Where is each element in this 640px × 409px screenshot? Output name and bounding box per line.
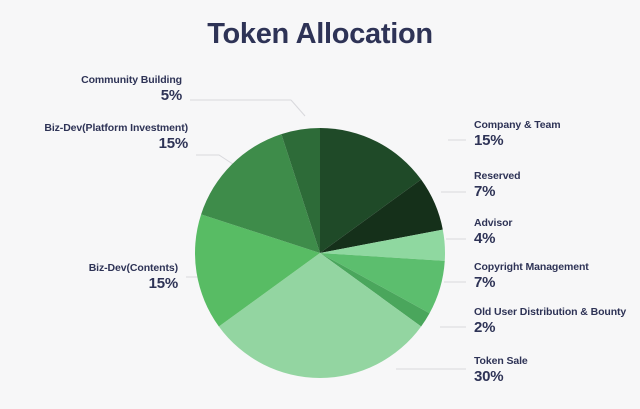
label-company-team: Company & Team 15% — [474, 119, 561, 150]
label-company-team-name: Company & Team — [474, 119, 561, 132]
label-biz-dev-contents-name: Biz-Dev(Contents) — [89, 262, 178, 275]
label-old-user-distribution-value: 2% — [474, 319, 626, 337]
label-biz-dev-contents: Biz-Dev(Contents) 15% — [89, 262, 178, 293]
label-token-sale: Token Sale 30% — [474, 355, 528, 386]
label-biz-dev-contents-value: 15% — [89, 275, 178, 293]
label-advisor-value: 4% — [474, 230, 512, 248]
label-old-user-distribution-name: Old User Distribution & Bounty — [474, 306, 626, 319]
label-token-sale-value: 30% — [474, 368, 528, 386]
label-token-sale-name: Token Sale — [474, 355, 528, 368]
leader-line-community-building — [291, 100, 305, 116]
label-company-team-value: 15% — [474, 132, 561, 150]
token-allocation-chart: Token Allocation Company & Team 15% Rese… — [0, 0, 640, 409]
label-biz-dev-platform-investment-value: 15% — [44, 135, 188, 153]
label-biz-dev-platform-investment-name: Biz-Dev(Platform Investment) — [44, 122, 188, 135]
label-community-building-name: Community Building — [81, 74, 182, 87]
label-reserved-value: 7% — [474, 183, 520, 201]
label-advisor: Advisor 4% — [474, 217, 512, 248]
label-reserved: Reserved 7% — [474, 170, 520, 201]
label-copyright-management-name: Copyright Management — [474, 261, 589, 274]
label-copyright-management-value: 7% — [474, 274, 589, 292]
label-reserved-name: Reserved — [474, 170, 520, 183]
label-community-building-value: 5% — [81, 87, 182, 105]
label-copyright-management: Copyright Management 7% — [474, 261, 589, 292]
label-community-building: Community Building 5% — [81, 74, 182, 105]
label-advisor-name: Advisor — [474, 217, 512, 230]
pie-chart-graphic — [0, 0, 640, 409]
pie-slices-group — [195, 128, 445, 378]
label-biz-dev-platform-investment: Biz-Dev(Platform Investment) 15% — [44, 122, 188, 153]
label-old-user-distribution: Old User Distribution & Bounty 2% — [474, 306, 626, 337]
